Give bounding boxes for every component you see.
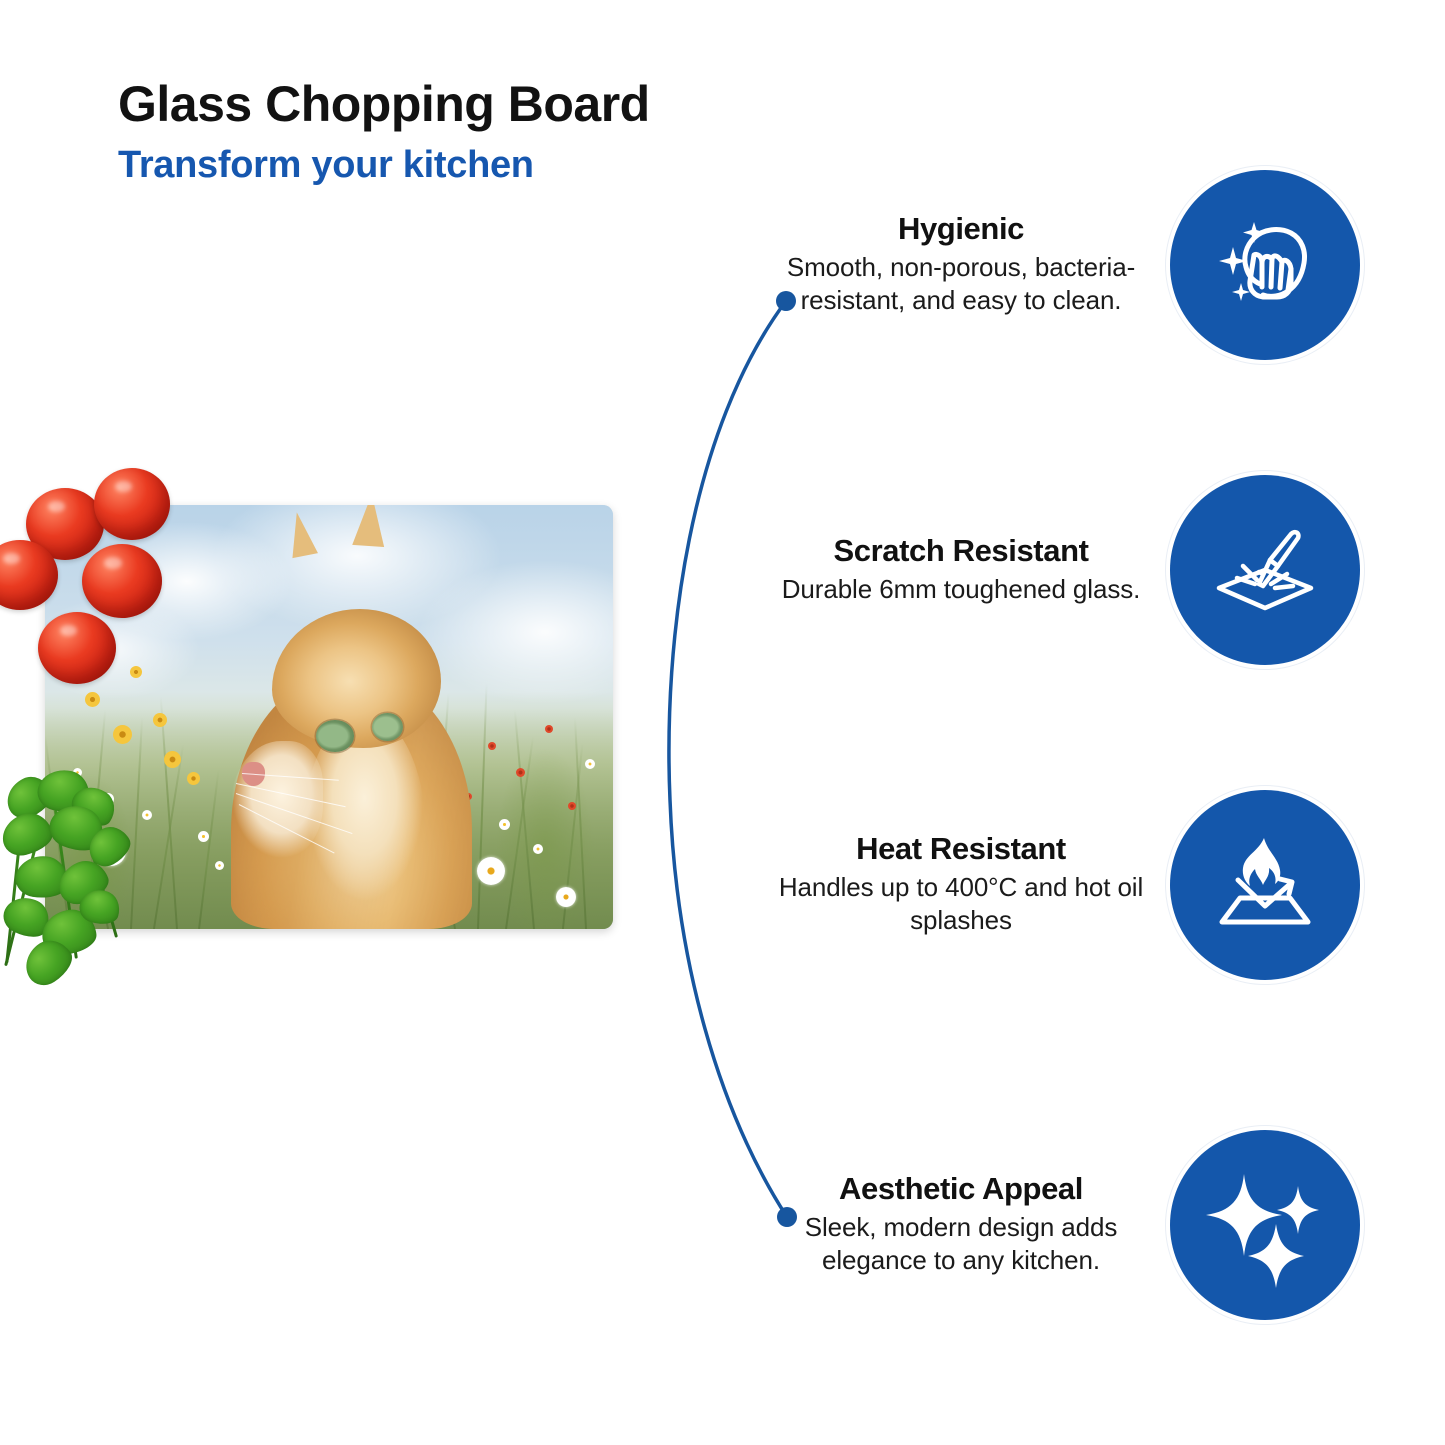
feature-text-block: Hygienic Smooth, non-porous, bacteria-re…	[770, 212, 1170, 317]
feature-description: Durable 6mm toughened glass.	[770, 573, 1152, 606]
knife-on-surface-icon	[1170, 475, 1360, 665]
cat-illustration	[221, 581, 477, 929]
header: Glass Chopping Board Transform your kitc…	[118, 78, 650, 187]
hand-wiping-sparkle-icon	[1170, 170, 1360, 360]
page-subtitle: Transform your kitchen	[118, 145, 650, 187]
feature-text-block: Aesthetic Appeal Sleek, modern design ad…	[770, 1172, 1170, 1277]
feature-description: Smooth, non-porous, bacteria-resistant, …	[770, 251, 1152, 318]
feature-text-block: Heat Resistant Handles up to 400°C and h…	[770, 832, 1170, 937]
flame-deflect-icon	[1170, 790, 1360, 980]
feature-title: Aesthetic Appeal	[770, 1172, 1152, 1207]
feature-aesthetic-appeal: Aesthetic Appeal Sleek, modern design ad…	[770, 1130, 1360, 1320]
feature-heat-resistant: Heat Resistant Handles up to 400°C and h…	[770, 790, 1360, 980]
infographic-page: Glass Chopping Board Transform your kitc…	[0, 0, 1445, 1445]
feature-description: Sleek, modern design adds elegance to an…	[770, 1211, 1152, 1278]
tomato	[94, 468, 170, 540]
feature-title: Scratch Resistant	[770, 534, 1152, 569]
feature-title: Hygienic	[770, 212, 1152, 247]
tomato	[38, 612, 116, 684]
page-title: Glass Chopping Board	[118, 78, 650, 131]
tomato	[82, 544, 162, 618]
feature-description: Handles up to 400°C and hot oil splashes	[770, 871, 1152, 938]
feature-scratch-resistant: Scratch Resistant Durable 6mm toughened …	[770, 475, 1360, 665]
feature-hygienic: Hygienic Smooth, non-porous, bacteria-re…	[770, 170, 1360, 360]
product-image-composite	[0, 440, 660, 1000]
feature-text-block: Scratch Resistant Durable 6mm toughened …	[770, 534, 1170, 606]
sparkles-icon	[1170, 1130, 1360, 1320]
parsley-garnish	[2, 770, 137, 985]
feature-title: Heat Resistant	[770, 832, 1152, 867]
